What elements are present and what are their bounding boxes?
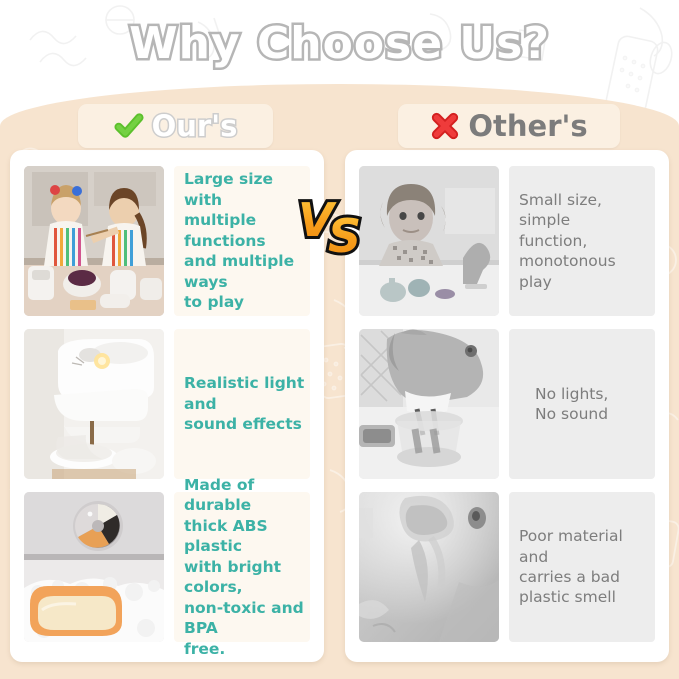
ours-row-2: Realistic light and sound effects — [24, 329, 310, 479]
ours-row-1: Large size with multiple functions and m… — [24, 166, 310, 316]
ours-image-1 — [24, 166, 164, 316]
ours-image-2 — [24, 329, 164, 479]
ours-label: Our's — [152, 112, 238, 141]
ours-caption-1: Large size with multiple functions and m… — [174, 166, 310, 316]
others-caption-1: Small size, simple function, monotonous … — [509, 166, 655, 316]
svg-text:S: S — [328, 209, 361, 258]
comparison-header: Our's V S Other's — [0, 104, 679, 152]
ours-badge: Our's — [78, 104, 273, 148]
others-image-2 — [359, 329, 499, 479]
others-panel: Small size, simple function, monotonous … — [345, 150, 669, 662]
others-caption-2: No lights, No sound — [509, 329, 655, 479]
ours-row-3: Made of durable thick ABS plastic with b… — [24, 492, 310, 642]
check-icon — [114, 111, 144, 141]
others-row-1: Small size, simple function, monotonous … — [359, 166, 655, 316]
page-title: Why Choose Us? — [0, 18, 679, 69]
others-image-3 — [359, 492, 499, 642]
others-caption-3: Poor material and carries a bad plastic … — [509, 492, 655, 642]
ours-panel: Large size with multiple functions and m… — [10, 150, 324, 662]
others-badge: Other's — [398, 104, 620, 148]
others-label: Other's — [468, 112, 587, 141]
ours-image-3 — [24, 492, 164, 642]
versus-badge: V S — [292, 186, 388, 258]
ours-caption-3: Made of durable thick ABS plastic with b… — [174, 492, 310, 642]
others-row-2: No lights, No sound — [359, 329, 655, 479]
cross-icon — [430, 111, 460, 141]
others-row-3: Poor material and carries a bad plastic … — [359, 492, 655, 642]
ours-caption-2: Realistic light and sound effects — [174, 329, 310, 479]
